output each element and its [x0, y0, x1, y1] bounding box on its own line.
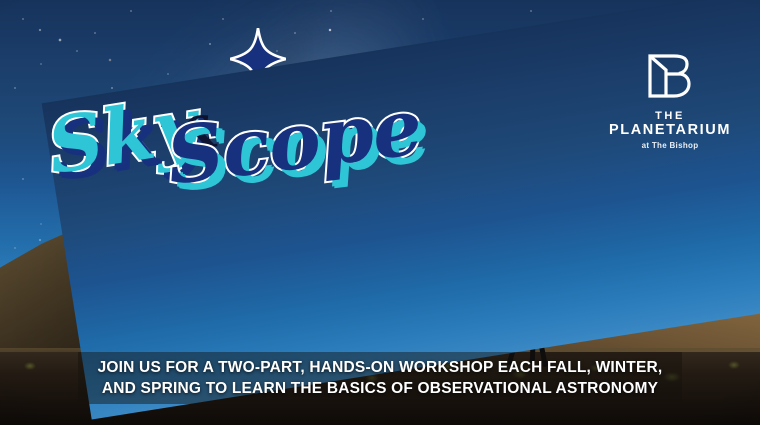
- planetarium-logo: THE PLANETARIUM at The Bishop: [609, 44, 731, 140]
- brand-line-planetarium: PLANETARIUM: [609, 122, 731, 138]
- brand-line-at-the-bishop: at The Bishop: [609, 140, 731, 151]
- bishop-b-monogram-icon: [640, 44, 700, 104]
- title-word-scope: Scope: [162, 97, 308, 252]
- caption-line-2: AND SPRING TO LEARN THE BASICS OF OBSERV…: [102, 380, 658, 398]
- brand-line-the: THE: [609, 110, 731, 122]
- poster: Sky & Scope THE PLANETARIUM at The Bisho…: [0, 0, 760, 425]
- caption-line-1: JOIN US FOR A TWO-PART, HANDS-ON WORKSHO…: [98, 359, 663, 377]
- sky-and-scope-logo-artwork: Sky & Scope: [48, 12, 378, 202]
- caption-block: JOIN US FOR A TWO-PART, HANDS-ON WORKSHO…: [0, 352, 760, 404]
